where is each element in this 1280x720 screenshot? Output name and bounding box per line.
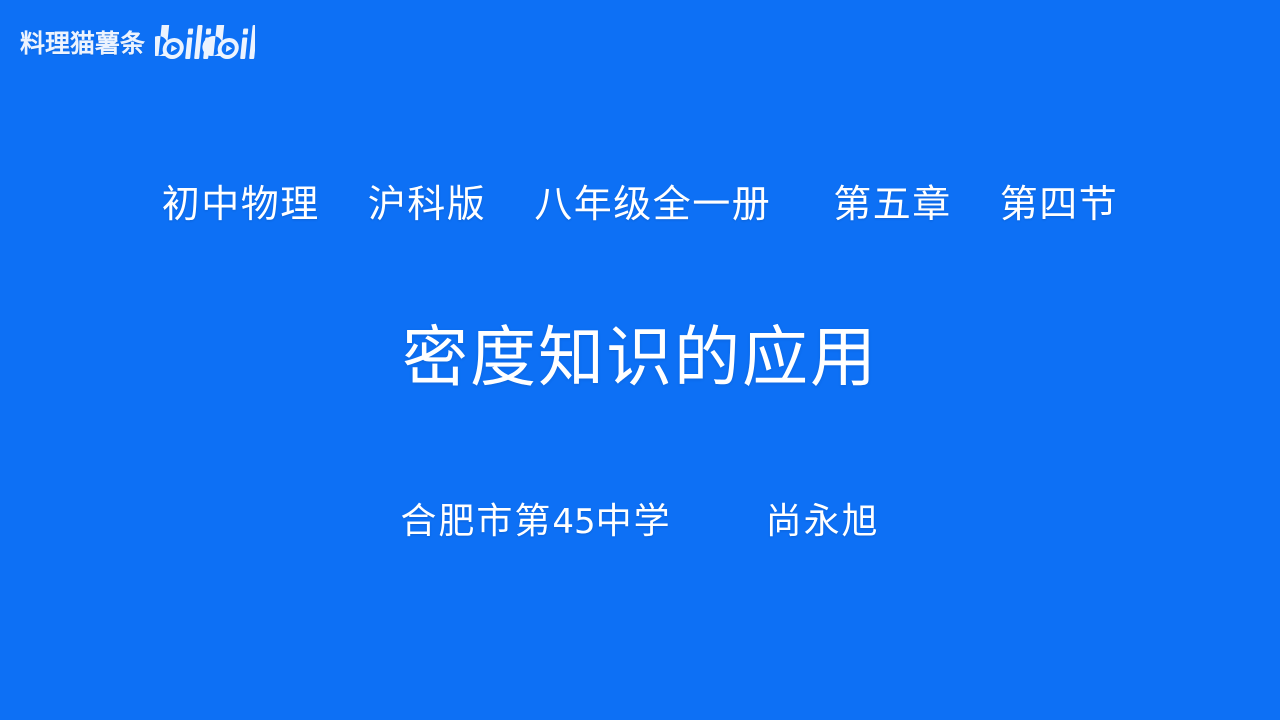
school-number: 45 [552,502,595,542]
school-name-prefix: 合肥市第 [400,501,552,541]
presenter-credit: 合肥市第45中学 尚永旭 [0,496,1280,547]
slide-canvas: 料理猫薯条 [0,0,1280,720]
subtitle-volume: 八年级全一册 [534,179,771,231]
subtitle-chapter: 第五章 [833,179,952,231]
page-title: 密度知识的应用 [0,317,1280,399]
channel-watermark: 料理猫薯条 [20,22,255,64]
school-name-suffix: 中学 [596,501,672,541]
bilibili-logo-icon [155,22,255,64]
watermark-username: 料理猫薯条 [20,31,145,56]
subtitle-stage: 初中物理 [162,179,320,231]
course-subtitle: 初中物理 沪科版 八年级全一册 第五章 第四节 [0,179,1280,231]
presenter-name: 尚永旭 [766,501,880,541]
subtitle-edition: 沪科版 [368,179,487,231]
subtitle-section: 第四节 [1000,179,1119,231]
